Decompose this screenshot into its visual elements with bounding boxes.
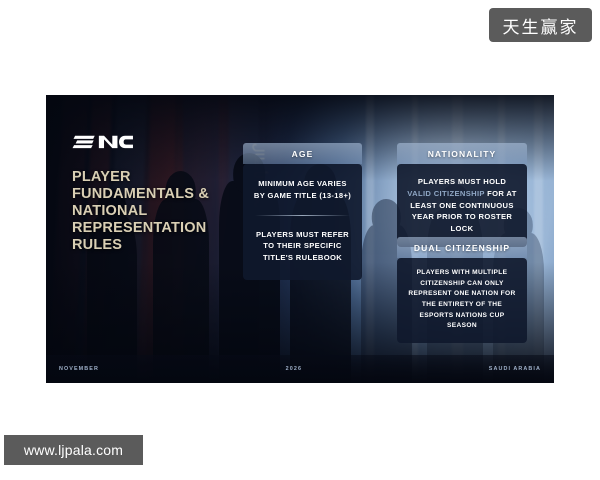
card-nationality-header: NATIONALITY bbox=[397, 143, 527, 164]
footer-location: SAUDI ARABIA bbox=[489, 366, 541, 372]
card-dual-citizenship-body: PLAYERS WITH MULTIPLE CITIZENSHIP CAN ON… bbox=[397, 258, 527, 343]
page-title: PLAYER FUNDAMENTALS & NATIONAL REPRESENT… bbox=[72, 169, 252, 255]
watermark-bottom-left: www.ljpala.com bbox=[4, 435, 143, 465]
card-age: AGE MINIMUM AGE VARIES BY GAME TITLE (13… bbox=[243, 143, 362, 280]
footer-year: 2026 bbox=[286, 366, 302, 372]
card-nationality-body: PLAYERS MUST HOLD VALID CITIZENSHIP FOR … bbox=[397, 164, 527, 247]
card-dual-citizenship: DUAL CITIZENSHIP PLAYERS WITH MULTIPLE C… bbox=[397, 237, 527, 343]
watermark-top-right: 天生赢家 bbox=[489, 8, 592, 42]
enc-logo-icon bbox=[72, 133, 134, 152]
slide-footer: NOVEMBER 2026 SAUDI ARABIA bbox=[46, 355, 554, 383]
presentation-slide: نحن الأبطال PLAYER FUNDAMENTALS & NATION… bbox=[46, 95, 554, 383]
card-nationality: NATIONALITY PLAYERS MUST HOLD VALID CITI… bbox=[397, 143, 527, 247]
card-age-body: MINIMUM AGE VARIES BY GAME TITLE (13-18+… bbox=[243, 164, 362, 280]
card-age-paragraph-2: PLAYERS MUST REFER TO THEIR SPECIFIC TIT… bbox=[253, 229, 352, 264]
card-age-divider bbox=[255, 215, 350, 216]
card-nationality-text-highlight: VALID CITIZENSHIP bbox=[407, 189, 484, 198]
card-age-paragraph-1: MINIMUM AGE VARIES BY GAME TITLE (13-18+… bbox=[253, 178, 352, 202]
card-age-header: AGE bbox=[243, 143, 362, 164]
slide-title-block: PLAYER FUNDAMENTALS & NATIONAL REPRESENT… bbox=[72, 133, 252, 255]
card-dual-citizenship-header: DUAL CITIZENSHIP bbox=[397, 237, 527, 258]
card-nationality-text-lead: PLAYERS MUST HOLD bbox=[418, 177, 506, 186]
footer-month: NOVEMBER bbox=[59, 366, 99, 372]
